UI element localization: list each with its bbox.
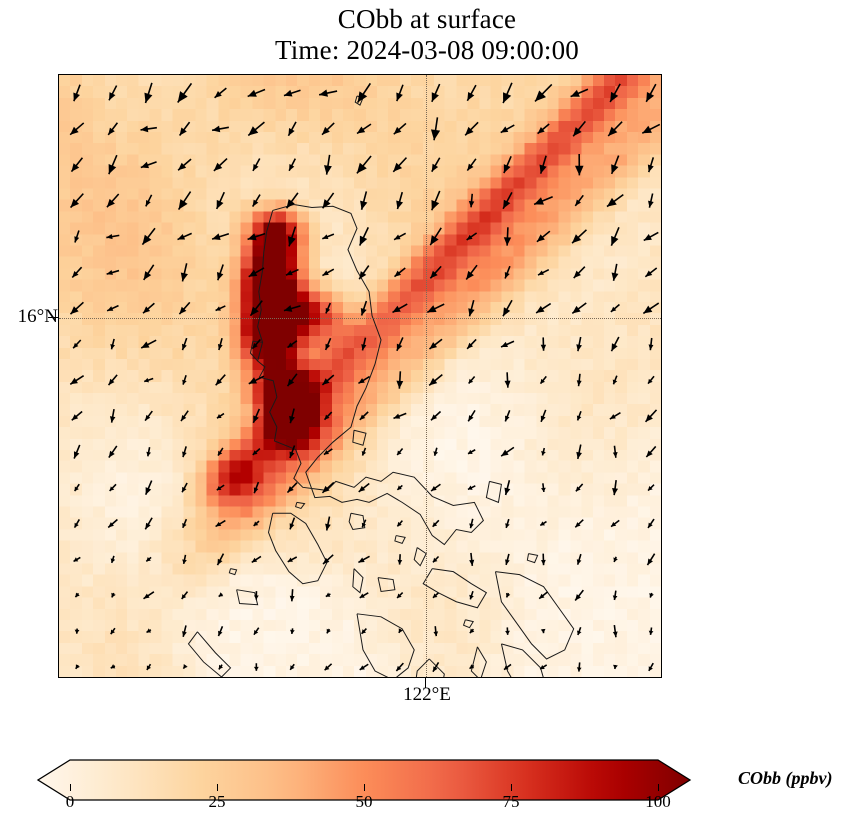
wind-arrow-icon (360, 664, 369, 670)
wind-arrow-icon (215, 88, 227, 98)
wind-arrow-icon (248, 122, 264, 135)
wind-arrow-icon (218, 448, 223, 456)
wind-arrow-icon (146, 481, 152, 495)
wind-arrow-icon (505, 554, 510, 565)
wind-arrow-icon (109, 446, 117, 458)
wind-arrow-icon (358, 377, 369, 384)
wind-arrow-icon (182, 375, 186, 384)
wind-arrow-icon (541, 554, 546, 566)
wind-arrow-icon (540, 521, 546, 525)
wind-arrow-icon (429, 339, 442, 349)
wind-arrow-icon (324, 449, 332, 455)
wind-arrow-icon (252, 556, 261, 562)
wind-arrow-icon (214, 159, 227, 171)
wind-arrow-icon (289, 159, 295, 171)
colorbar-tick-mark (511, 784, 512, 791)
wind-arrow-icon (431, 411, 441, 420)
wind-arrow-icon (427, 304, 444, 312)
wind-arrow-icon (433, 448, 438, 456)
wind-arrow-icon (319, 90, 337, 97)
wind-arrow-icon (541, 376, 547, 383)
wind-arrow-icon (71, 158, 82, 172)
wind-arrow-icon (396, 663, 403, 671)
wind-arrow-icon (534, 197, 553, 205)
wind-arrow-icon (610, 84, 620, 102)
wind-arrow-icon (540, 156, 547, 174)
wind-arrow-icon (610, 413, 621, 419)
wind-arrow-icon (327, 629, 331, 634)
wind-arrow-icon (322, 482, 333, 492)
wind-arrow-icon (432, 84, 440, 102)
wind-arrow-icon (468, 450, 475, 454)
wind-arrow-icon (254, 521, 259, 526)
wind-arrow-icon (322, 123, 334, 135)
wind-arrow-icon (397, 593, 403, 598)
wind-arrow-icon (253, 449, 260, 455)
wind-arrow-icon (179, 302, 189, 314)
wind-arrow-icon (142, 228, 155, 244)
wind-arrow-icon (219, 592, 224, 596)
wind-arrow-icon (357, 156, 371, 173)
wind-arrow-icon (288, 341, 297, 348)
wind-arrow-icon (611, 227, 619, 245)
wind-arrow-icon (649, 338, 654, 350)
wind-arrow-icon (396, 192, 403, 209)
wind-arrow-icon (111, 628, 115, 634)
wind-arrow-icon (357, 124, 371, 133)
wind-arrow-icon (504, 227, 511, 245)
wind-arrow-icon (393, 158, 406, 172)
wind-arrow-icon (361, 301, 367, 316)
wind-arrow-icon (572, 303, 586, 313)
wind-arrow-icon (182, 446, 187, 457)
wind-arrow-icon (536, 304, 551, 313)
title-main: CObb at surface (0, 4, 854, 35)
wind-arrow-icon (541, 337, 546, 350)
wind-arrow-icon (106, 234, 119, 239)
wind-arrow-icon (607, 195, 623, 207)
wind-arrow-icon (144, 592, 154, 599)
wind-arrow-icon (325, 517, 331, 531)
wind-arrow-icon (646, 84, 656, 102)
wind-arrow-icon (290, 518, 295, 530)
wind-arrow-icon (212, 126, 229, 133)
wind-arrow-icon (647, 554, 654, 565)
wind-arrow-icon (575, 590, 583, 600)
y-tick-label-16n: 16°N (18, 306, 58, 328)
wind-arrow-icon (217, 485, 224, 490)
wind-arrow-icon (253, 195, 260, 207)
wind-arrow-icon (501, 447, 514, 456)
wind-arrow-icon (501, 341, 514, 347)
wind-arrow-icon (433, 662, 439, 671)
wind-arrow-icon (179, 192, 191, 210)
wind-arrow-icon (505, 627, 510, 634)
wind-arrow-icon (144, 265, 154, 280)
wind-arrow-icon (75, 593, 79, 598)
wind-arrow-icon (322, 269, 333, 275)
wind-arrow-icon (287, 193, 298, 208)
wind-arrow-icon (218, 626, 222, 636)
wind-arrow-icon (70, 376, 83, 385)
wind-arrow-icon (541, 448, 546, 455)
wind-arrow-icon (470, 664, 475, 668)
wind-arrow-icon (397, 448, 402, 455)
wind-arrow-icon (503, 300, 512, 316)
wind-arrow-icon (288, 557, 297, 562)
wind-arrow-icon (141, 340, 156, 348)
wind-arrow-icon (253, 159, 260, 171)
wind-arrow-icon (74, 557, 81, 561)
wind-arrow-icon (572, 230, 586, 243)
wind-arrow-icon (430, 228, 441, 245)
wind-arrow-icon (613, 557, 617, 562)
wind-arrow-icon (178, 233, 192, 239)
wind-arrow-icon (75, 629, 80, 634)
wind-arrow-icon (433, 520, 439, 526)
wind-arrow-icon (254, 628, 259, 635)
wind-arrow-icon (577, 554, 582, 565)
wind-arrow-icon (325, 412, 332, 420)
wind-arrow-icon (612, 480, 618, 495)
colorbar-tick-mark (658, 784, 659, 791)
wind-arrow-icon (399, 628, 403, 633)
wind-arrow-icon (107, 194, 119, 207)
wind-arrow-icon (108, 520, 117, 528)
wind-arrow-icon (181, 411, 188, 421)
colorbar[interactable]: 0255075100 CObb (ppbv) (0, 744, 854, 836)
wind-arrow-icon (249, 376, 264, 384)
wind-arrow-icon (539, 592, 547, 599)
wind-arrow-icon (577, 374, 582, 386)
wind-arrow-icon (182, 625, 187, 636)
wind-arrow-icon (181, 263, 188, 281)
wind-arrow-icon (574, 267, 585, 278)
wind-arrow-icon (503, 83, 512, 103)
wind-arrow-icon (613, 446, 618, 458)
wind-arrow-icon (110, 484, 116, 491)
wind-arrow-icon (433, 557, 439, 563)
wind-arrow-icon (217, 192, 225, 209)
wind-arrow-icon (254, 591, 259, 599)
wind-arrow-icon (284, 90, 301, 97)
colorbar-label: CObb (ppbv) (738, 768, 832, 789)
wind-arrow-icon (217, 264, 223, 280)
wind-arrow-icon (397, 521, 402, 527)
wind-arrow-icon (359, 483, 370, 491)
wind-arrow-icon (183, 664, 187, 669)
wind-arrow-icon (429, 375, 442, 386)
wind-arrow-icon (359, 266, 369, 280)
wind-arrow-icon (360, 412, 368, 420)
wind-arrow-icon (611, 305, 620, 312)
wind-arrow-icon (360, 593, 369, 598)
wind-arrow-icon (433, 626, 438, 636)
wind-arrow-icon (394, 268, 405, 277)
wind-arrow-icon (289, 409, 295, 424)
wind-arrow-icon (358, 83, 371, 102)
wind-arrow-icon (505, 519, 510, 528)
wind-arrow-icon (611, 156, 618, 174)
wind-arrow-icon (217, 414, 224, 419)
wind-arrow-icon (144, 378, 153, 382)
wind-arrow-icon (469, 376, 475, 383)
wind-arrow-icon (146, 447, 151, 456)
wind-arrow-icon (75, 484, 80, 491)
wind-arrow-icon (575, 154, 584, 175)
wind-arrow-icon (506, 593, 510, 598)
wind-arrow-icon (111, 556, 116, 563)
wind-arrow-icon (323, 555, 333, 564)
map-axes[interactable] (58, 74, 662, 678)
wind-arrow-icon (219, 665, 223, 670)
wind-arrow-icon (178, 83, 192, 102)
wind-arrow-icon (397, 337, 403, 350)
wind-arrow-icon (646, 410, 657, 422)
wind-arrow-icon (72, 411, 82, 420)
wind-arrow-icon (573, 121, 585, 136)
wind-arrow-icon (469, 553, 474, 566)
wind-arrow-icon (362, 448, 366, 456)
wind-arrow-icon (467, 233, 477, 240)
wind-arrow-icon (467, 85, 476, 101)
wind-arrow-icon (290, 664, 294, 670)
wind-arrow-icon (396, 371, 403, 388)
wind-arrow-icon (74, 445, 80, 459)
wind-arrow-icon (646, 446, 655, 457)
wind-arrow-icon (216, 375, 226, 386)
wind-arrow-icon (396, 85, 403, 101)
wind-arrow-icon (470, 629, 474, 634)
wind-vector-layer (59, 75, 661, 677)
wind-arrow-icon (576, 445, 582, 459)
wind-arrow-icon (613, 591, 618, 600)
wind-arrow-icon (362, 520, 366, 528)
wind-arrow-icon (362, 629, 367, 634)
wind-arrow-icon (182, 483, 187, 492)
wind-arrow-icon (648, 157, 654, 172)
wind-arrow-icon (326, 592, 331, 596)
wind-arrow-icon (249, 268, 264, 277)
wind-arrow-icon (612, 264, 619, 281)
wind-arrow-icon (361, 338, 366, 351)
wind-arrow-icon (145, 518, 152, 530)
colorbar-tick-mark (217, 784, 218, 791)
wind-arrow-icon (111, 593, 115, 598)
wind-arrow-icon (288, 227, 296, 247)
wind-arrow-icon (433, 593, 439, 598)
wind-arrow-icon (469, 519, 474, 528)
wind-arrow-icon (540, 665, 547, 669)
wind-arrow-icon (504, 480, 510, 495)
wind-arrow-icon (141, 126, 157, 133)
wind-arrow-icon (468, 410, 475, 421)
wind-arrow-icon (250, 301, 262, 316)
wind-arrow-icon (432, 158, 440, 172)
wind-arrow-icon (465, 122, 478, 135)
wind-arrow-icon (571, 89, 588, 96)
colorbar-tick-label: 75 (481, 792, 541, 812)
wind-arrow-icon (642, 124, 660, 133)
wind-arrow-icon (577, 411, 581, 420)
wind-arrow-icon (648, 376, 654, 383)
wind-arrow-icon (141, 162, 157, 168)
wind-arrow-icon (147, 664, 151, 670)
wind-arrow-icon (74, 230, 79, 242)
wind-arrow-icon (394, 233, 406, 239)
wind-arrow-icon (146, 195, 152, 207)
wind-arrow-icon (649, 663, 653, 671)
wind-arrow-icon (505, 266, 510, 278)
wind-arrow-icon (644, 232, 659, 240)
wind-arrow-icon (431, 484, 440, 491)
wind-arrow-icon (541, 629, 546, 633)
wind-arrow-icon (575, 195, 583, 206)
wind-arrow-icon (326, 338, 331, 350)
wind-arrow-icon (538, 124, 550, 134)
wind-arrow-icon (324, 155, 332, 175)
wind-arrow-icon (253, 409, 259, 423)
wind-arrow-icon (503, 192, 512, 208)
colorbar-tick-label: 0 (40, 792, 100, 812)
wind-arrow-icon (110, 339, 115, 349)
wind-arrow-icon (537, 231, 550, 242)
wind-arrow-icon (394, 123, 406, 134)
wind-arrow-icon (649, 593, 654, 598)
wind-arrow-icon (217, 554, 223, 566)
wind-arrow-icon (648, 194, 654, 208)
wind-arrow-icon (70, 123, 84, 135)
wind-arrow-icon (535, 84, 552, 101)
wind-arrow-icon (254, 663, 259, 671)
wind-arrow-icon (73, 340, 81, 348)
wind-arrow-icon (648, 519, 654, 528)
wind-arrow-icon (248, 89, 265, 96)
wind-arrow-icon (358, 556, 369, 562)
wind-arrow-icon (216, 521, 226, 527)
wind-arrow-icon (182, 519, 186, 528)
wind-arrow-icon (182, 592, 188, 599)
wind-arrow-icon (468, 300, 474, 316)
wind-arrow-icon (466, 265, 477, 279)
wind-arrow-icon (430, 266, 441, 278)
wind-arrow-icon (504, 156, 511, 173)
wind-arrow-icon (397, 554, 402, 564)
wind-arrow-icon (286, 270, 299, 276)
wind-arrow-icon (75, 519, 80, 527)
figure-title: CObb at surface Time: 2024-03-08 09:00:0… (0, 4, 854, 67)
wind-arrow-icon (212, 233, 229, 240)
wind-arrow-icon (287, 483, 297, 493)
wind-arrow-icon (182, 555, 187, 564)
wind-arrow-icon (611, 337, 618, 351)
colorbar-tick-label: 100 (628, 792, 688, 812)
wind-arrow-icon (643, 303, 658, 313)
wind-arrow-icon (72, 267, 81, 277)
wind-arrow-icon (109, 375, 118, 385)
wind-arrow-icon (613, 665, 618, 669)
colorbar-tick-label: 50 (334, 792, 394, 812)
wind-arrow-icon (71, 194, 84, 208)
wind-arrow-icon (254, 482, 259, 493)
wind-arrow-icon (325, 664, 332, 670)
wind-arrow-icon (393, 413, 406, 418)
wind-arrow-icon (577, 627, 581, 635)
wind-arrow-icon (216, 306, 226, 311)
wind-arrow-icon (147, 628, 152, 632)
wind-arrow-icon (252, 340, 260, 349)
wind-arrow-icon (613, 625, 618, 637)
wind-arrow-icon (290, 589, 295, 601)
wind-arrow-icon (469, 591, 474, 599)
wind-arrow-icon (322, 234, 334, 239)
wind-arrow-icon (107, 270, 119, 275)
wind-arrow-icon (178, 159, 191, 170)
wind-arrow-icon (538, 270, 549, 275)
wind-arrow-icon (76, 664, 80, 669)
wind-arrow-icon (541, 410, 546, 422)
wind-arrow-icon (575, 520, 583, 528)
figure-canvas: CObb at surface Time: 2024-03-08 09:00:0… (0, 0, 854, 836)
wind-arrow-icon (288, 122, 296, 136)
wind-arrow-icon (182, 338, 187, 350)
wind-arrow-icon (110, 409, 115, 423)
wind-arrow-icon (322, 375, 333, 385)
wind-arrow-icon (145, 411, 152, 421)
wind-arrow-icon (613, 376, 617, 385)
wind-arrow-icon (577, 662, 582, 671)
wind-arrow-icon (109, 86, 117, 101)
wind-arrow-icon (611, 520, 619, 526)
wind-arrow-icon (504, 664, 511, 669)
wind-arrow-icon (109, 155, 117, 174)
wind-arrow-icon (648, 485, 654, 491)
wind-arrow-icon (108, 123, 117, 135)
colorbar-tick-mark (364, 784, 365, 791)
wind-arrow-icon (608, 122, 622, 136)
wind-arrow-icon (645, 268, 656, 277)
wind-arrow-icon (290, 445, 295, 458)
colorbar-tick-label: 25 (187, 792, 247, 812)
wind-arrow-icon (431, 117, 440, 140)
title-timestamp: Time: 2024-03-08 09:00:00 (0, 35, 854, 66)
wind-arrow-icon (649, 627, 654, 634)
wind-arrow-icon (323, 193, 334, 208)
wind-arrow-icon (107, 306, 118, 311)
wind-arrow-icon (397, 485, 402, 489)
wind-arrow-icon (146, 557, 151, 561)
wind-arrow-icon (144, 83, 152, 103)
wind-arrow-icon (469, 194, 474, 208)
wind-arrow-icon (218, 338, 223, 350)
wind-arrow-icon (70, 302, 83, 314)
x-tick-label-122e: 122°E (0, 684, 854, 706)
wind-arrow-icon (505, 410, 510, 421)
wind-arrow-icon (467, 159, 476, 171)
wind-arrow-icon (73, 85, 80, 102)
wind-arrow-icon (284, 305, 301, 312)
wind-arrow-icon (360, 227, 369, 245)
wind-arrow-icon (467, 339, 476, 348)
wind-arrow-icon (326, 303, 331, 313)
wind-arrow-icon (431, 191, 439, 210)
wind-arrow-icon (143, 303, 154, 313)
wind-arrow-icon (288, 374, 297, 386)
wind-arrow-icon (541, 483, 546, 492)
wind-arrow-icon (576, 484, 583, 491)
wind-arrow-icon (468, 486, 475, 490)
colorbar-tick-mark (70, 784, 71, 791)
